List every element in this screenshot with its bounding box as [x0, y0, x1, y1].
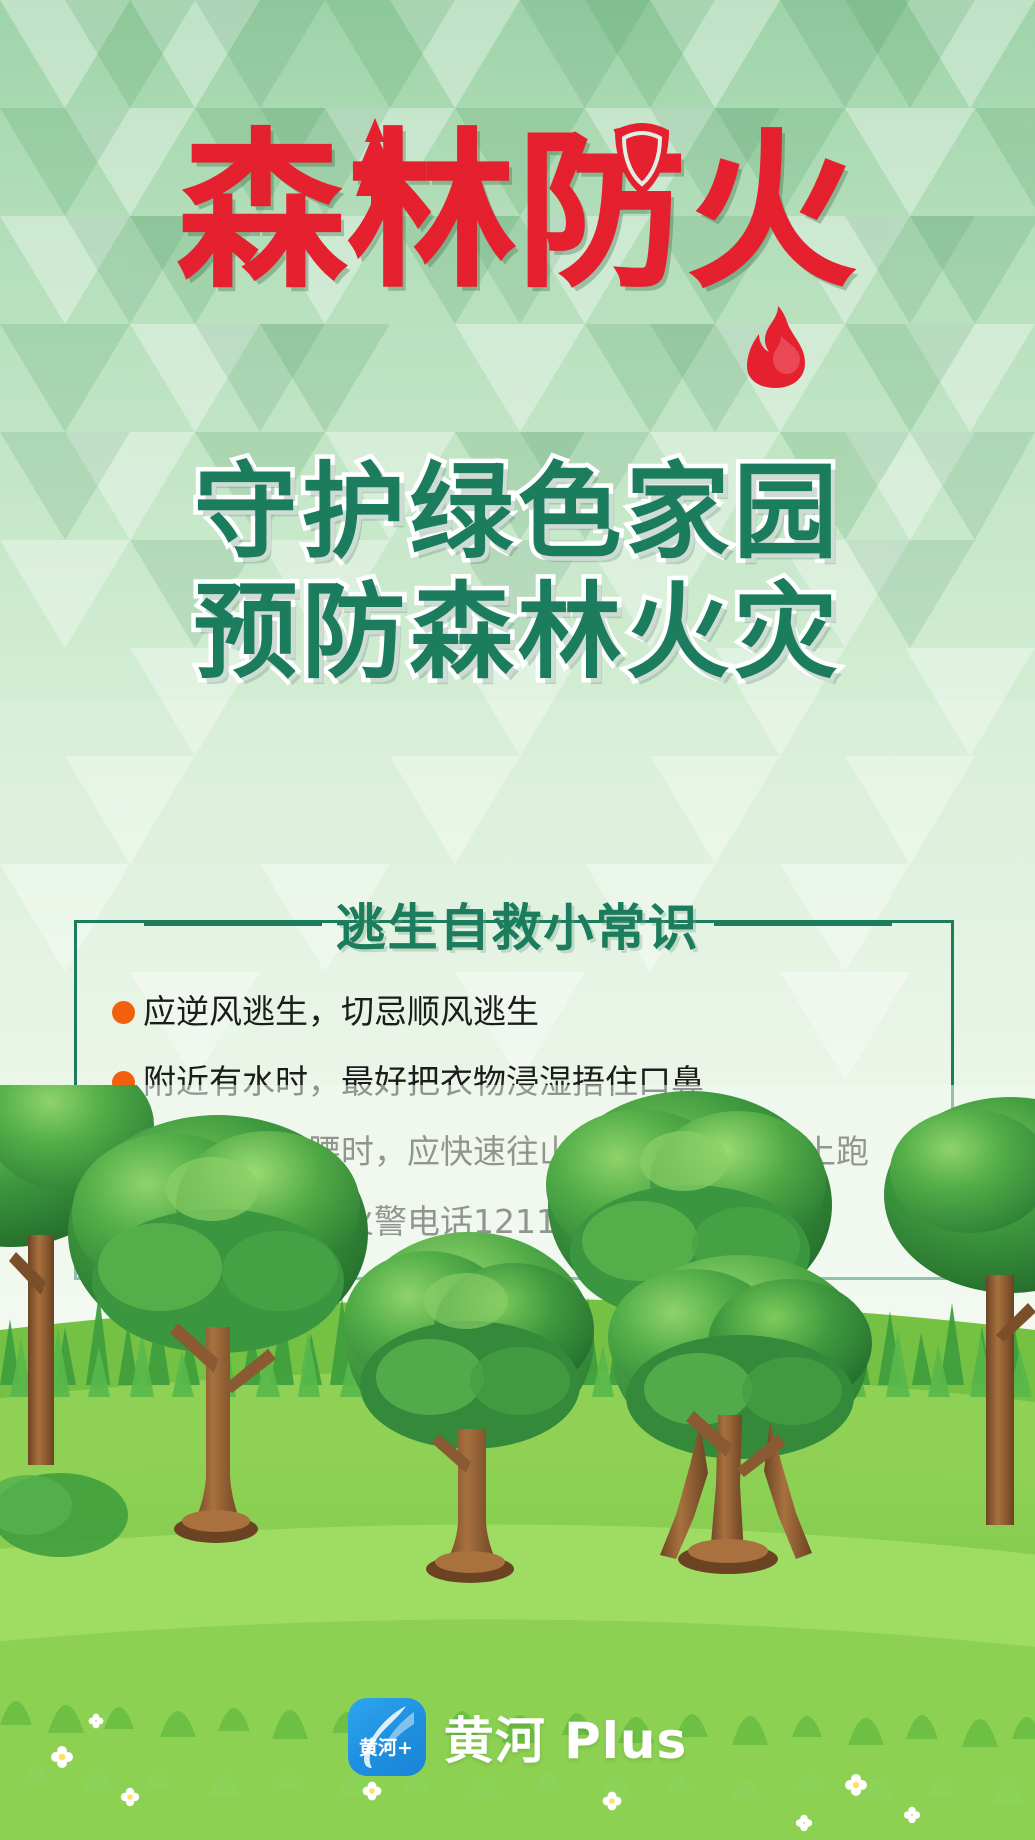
subtitle-block: 守护绿色家园 预防森林火灾 [0, 452, 1035, 692]
footer-brand: 黄河+ 黄河 Plus [0, 1698, 1035, 1776]
logo-swoosh-mark: 黄河+ [356, 1704, 418, 1770]
page-title: 森林防火 [178, 128, 858, 296]
bullet-dot-icon [112, 1001, 135, 1024]
heading-rule-left [144, 922, 322, 926]
tips-heading: 逃生自救小常识 [336, 888, 700, 960]
main-title-block: 森林防火 [0, 128, 1035, 358]
list-item-text: 应逆风逃生，切忌顺风逃生 [143, 990, 539, 1034]
tips-heading-row: 逃生自救小常识 [0, 888, 1035, 960]
brand-name: 黄河 Plus [444, 1701, 688, 1773]
heading-rule-right [714, 922, 892, 926]
pine-tree-icon [352, 118, 398, 210]
logo-mark-text: 黄河+ [359, 1736, 413, 1759]
list-item: 应逆风逃生，切忌顺风逃生 [112, 990, 932, 1034]
subtitle-line-1: 守护绿色家园 [0, 452, 1035, 572]
shield-icon [612, 122, 672, 196]
app-logo-icon: 黄河+ [348, 1698, 426, 1776]
subtitle-line-2: 预防森林火灾 [0, 572, 1035, 692]
poster-root: 森林防火 守护绿色家园 预防森林火灾 逃生自救小常识 应逆风逃生 [0, 0, 1035, 1840]
flame-icon [745, 306, 807, 388]
